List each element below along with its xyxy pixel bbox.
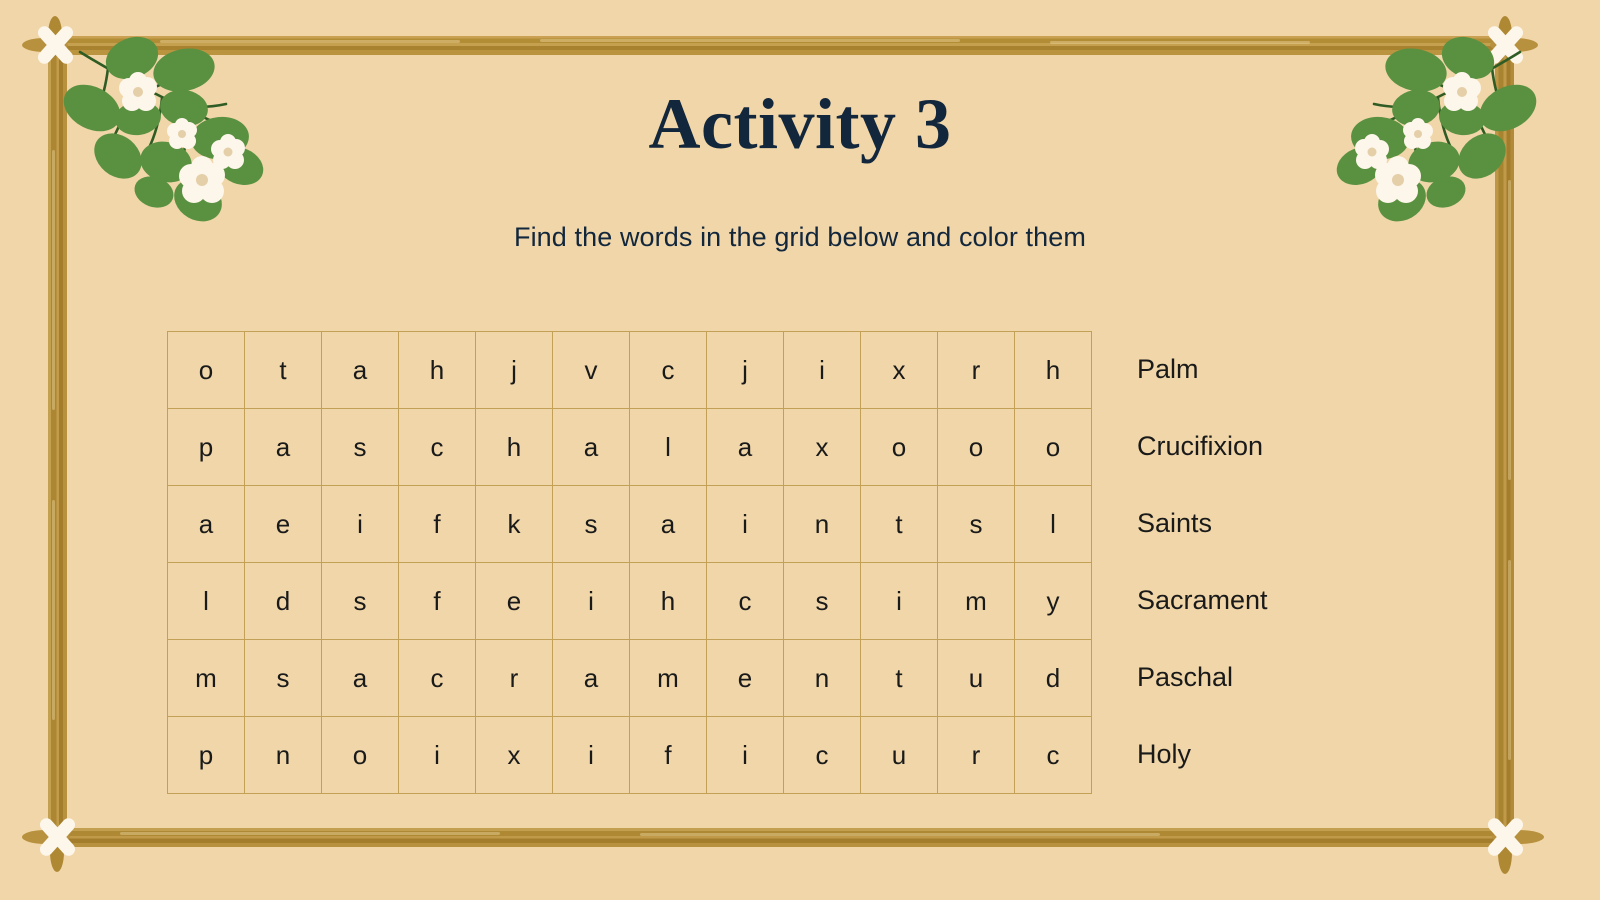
grid-cell[interactable]: i <box>861 563 938 640</box>
grid-cell[interactable]: c <box>1015 717 1092 794</box>
grid-cell[interactable]: i <box>707 486 784 563</box>
wood-grain-streak <box>640 833 1160 836</box>
grid-cell[interactable]: c <box>707 563 784 640</box>
word-list: PalmCrucifixionSaintsSacramentPaschalHol… <box>1137 331 1477 793</box>
grid-cell[interactable]: a <box>322 332 399 409</box>
grid-cell[interactable]: s <box>784 563 861 640</box>
grid-cell[interactable]: o <box>1015 409 1092 486</box>
grid-cell[interactable]: s <box>322 409 399 486</box>
grid-cell[interactable]: l <box>630 409 707 486</box>
grid-cell[interactable]: p <box>168 409 245 486</box>
wood-grain-streak <box>52 150 55 410</box>
grid-cell[interactable]: a <box>630 486 707 563</box>
word-list-item[interactable]: Saints <box>1137 485 1477 562</box>
grid-cell[interactable]: p <box>168 717 245 794</box>
grid-cell[interactable]: l <box>168 563 245 640</box>
grid-cell[interactable]: j <box>476 332 553 409</box>
grid-cell[interactable]: o <box>168 332 245 409</box>
word-list-item[interactable]: Sacrament <box>1137 562 1477 639</box>
grid-cell[interactable]: l <box>1015 486 1092 563</box>
corner-lashing-icon <box>34 814 80 860</box>
grid-cell[interactable]: v <box>553 332 630 409</box>
word-list-item[interactable]: Holy <box>1137 716 1477 793</box>
grid-cell[interactable]: t <box>245 332 322 409</box>
grid-cell[interactable]: s <box>322 563 399 640</box>
grid-cell[interactable]: n <box>245 717 322 794</box>
slide-canvas: Activity 3 Find the words in the grid be… <box>0 0 1600 900</box>
grid-cell[interactable]: y <box>1015 563 1092 640</box>
grid-cell[interactable]: a <box>553 640 630 717</box>
grid-cell[interactable]: a <box>707 409 784 486</box>
grid-cell[interactable]: h <box>630 563 707 640</box>
grid-row: pnoixificurc <box>168 717 1092 794</box>
page-subtitle: Find the words in the grid below and col… <box>0 222 1600 253</box>
grid-cell[interactable]: i <box>553 717 630 794</box>
grid-cell[interactable]: i <box>553 563 630 640</box>
word-list-item[interactable]: Crucifixion <box>1137 408 1477 485</box>
grid-row: otahjvcjixrh <box>168 332 1092 409</box>
wood-grain-streak <box>120 832 500 835</box>
word-list-item[interactable]: Paschal <box>1137 639 1477 716</box>
grid-cell[interactable]: e <box>245 486 322 563</box>
grid-cell[interactable]: t <box>861 486 938 563</box>
grid-row: ldsfeihcsimy <box>168 563 1092 640</box>
grid-cell[interactable]: o <box>861 409 938 486</box>
grid-cell[interactable]: f <box>399 563 476 640</box>
grid-cell[interactable]: n <box>784 486 861 563</box>
grid-cell[interactable]: r <box>476 640 553 717</box>
wood-grain-streak <box>1050 41 1310 44</box>
grid-cell[interactable]: s <box>245 640 322 717</box>
grid-row: aeifksaintsl <box>168 486 1092 563</box>
grid-cell[interactable]: r <box>938 332 1015 409</box>
grid-cell[interactable]: m <box>938 563 1015 640</box>
grid-cell[interactable]: r <box>938 717 1015 794</box>
grid-cell[interactable]: d <box>1015 640 1092 717</box>
grid-cell[interactable]: o <box>938 409 1015 486</box>
grid-cell[interactable]: f <box>399 486 476 563</box>
grid-cell[interactable]: i <box>399 717 476 794</box>
grid-row: paschalaxooo <box>168 409 1092 486</box>
grid-cell[interactable]: m <box>168 640 245 717</box>
grid-cell[interactable]: u <box>861 717 938 794</box>
grid-cell[interactable]: c <box>784 717 861 794</box>
grid-cell[interactable]: f <box>630 717 707 794</box>
grid-cell[interactable]: x <box>476 717 553 794</box>
grid-cell[interactable]: n <box>784 640 861 717</box>
grid-cell[interactable]: i <box>784 332 861 409</box>
grid-cell[interactable]: m <box>630 640 707 717</box>
grid-cell[interactable]: a <box>553 409 630 486</box>
grid-cell[interactable]: a <box>245 409 322 486</box>
grid-row: msacramentud <box>168 640 1092 717</box>
grid-cell[interactable]: e <box>476 563 553 640</box>
grid-cell[interactable]: o <box>322 717 399 794</box>
grid-cell[interactable]: i <box>707 717 784 794</box>
wood-grain-streak <box>52 500 55 720</box>
grid-cell[interactable]: x <box>861 332 938 409</box>
grid-cell[interactable]: t <box>861 640 938 717</box>
wood-grain-streak <box>1508 560 1511 760</box>
grid-cell[interactable]: s <box>553 486 630 563</box>
grid-cell[interactable]: h <box>1015 332 1092 409</box>
word-search-grid[interactable]: otahjvcjixrhpaschalaxoooaeifksaintslldsf… <box>167 331 1092 794</box>
word-list-item[interactable]: Palm <box>1137 331 1477 408</box>
corner-lashing-icon <box>1482 814 1528 860</box>
grid-cell[interactable]: d <box>245 563 322 640</box>
frame-bar-bottom <box>48 828 1520 847</box>
grid-cell[interactable]: c <box>399 640 476 717</box>
grid-cell[interactable]: h <box>399 332 476 409</box>
grid-cell[interactable]: u <box>938 640 1015 717</box>
wood-grain-streak <box>540 39 960 42</box>
grid-cell[interactable]: a <box>322 640 399 717</box>
grid-cell[interactable]: s <box>938 486 1015 563</box>
grid-cell[interactable]: x <box>784 409 861 486</box>
grid-cell[interactable]: e <box>707 640 784 717</box>
grid-cell[interactable]: k <box>476 486 553 563</box>
grid-cell[interactable]: i <box>322 486 399 563</box>
page-title: Activity 3 <box>0 88 1600 160</box>
grid-cell[interactable]: j <box>707 332 784 409</box>
grid-cell[interactable]: c <box>630 332 707 409</box>
grid-cell[interactable]: a <box>168 486 245 563</box>
grid-cell[interactable]: c <box>399 409 476 486</box>
grid-cell[interactable]: h <box>476 409 553 486</box>
